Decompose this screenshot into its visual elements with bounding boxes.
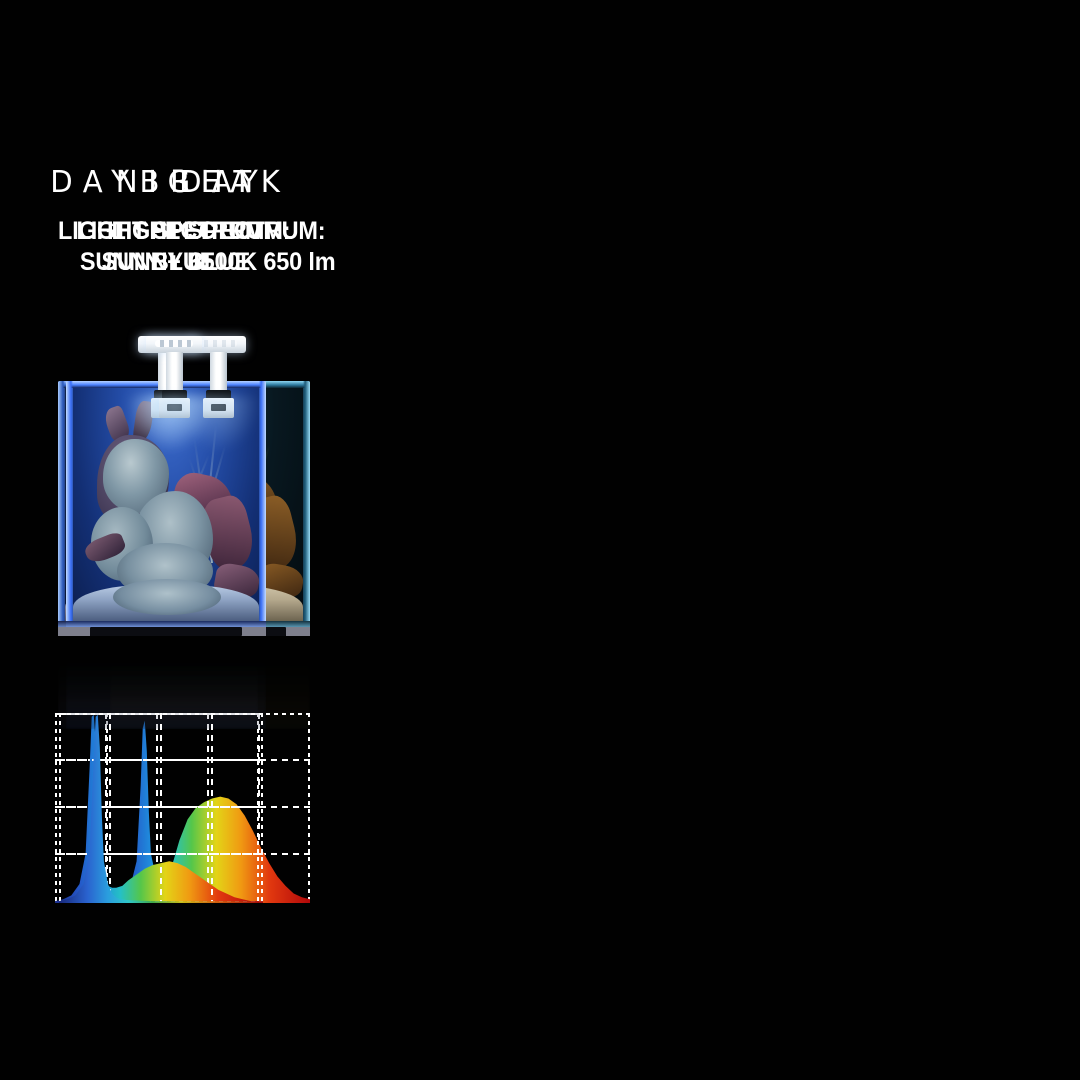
- spectrum-label-night: LIGHT SPECTRUM:: [11, 216, 356, 247]
- lamp-leds-icon: [199, 340, 237, 347]
- led-lamp-night: [146, 336, 202, 420]
- tank-foot-left: [66, 627, 90, 636]
- lamp-beam-glow: [132, 396, 216, 452]
- column-heading-night: NIGHT LIGHT SPECTRUM: BLUE: [0, 168, 367, 277]
- spectrum-value-night: BLUE: [11, 247, 356, 278]
- lamp-leds-icon: [155, 340, 193, 347]
- tank-foot-right: [286, 627, 310, 636]
- tank-rim-left: [66, 381, 73, 629]
- tank-foot-right: [242, 627, 266, 636]
- tank-base-bar: [90, 627, 242, 636]
- spectrum-chart-night: [59, 713, 263, 903]
- spectrum-curve-night: [59, 713, 263, 903]
- moss-carpet: [113, 579, 221, 615]
- mode-title-night: NIGHT: [6, 168, 362, 198]
- infographic-canvas: DAY LIGHT SPECTRUM: SUNNY 6500K 650 lm: [0, 0, 1080, 1080]
- tank-rim-right: [303, 381, 310, 629]
- tank-rim-right: [259, 381, 266, 629]
- tank-rim-left: [58, 381, 65, 629]
